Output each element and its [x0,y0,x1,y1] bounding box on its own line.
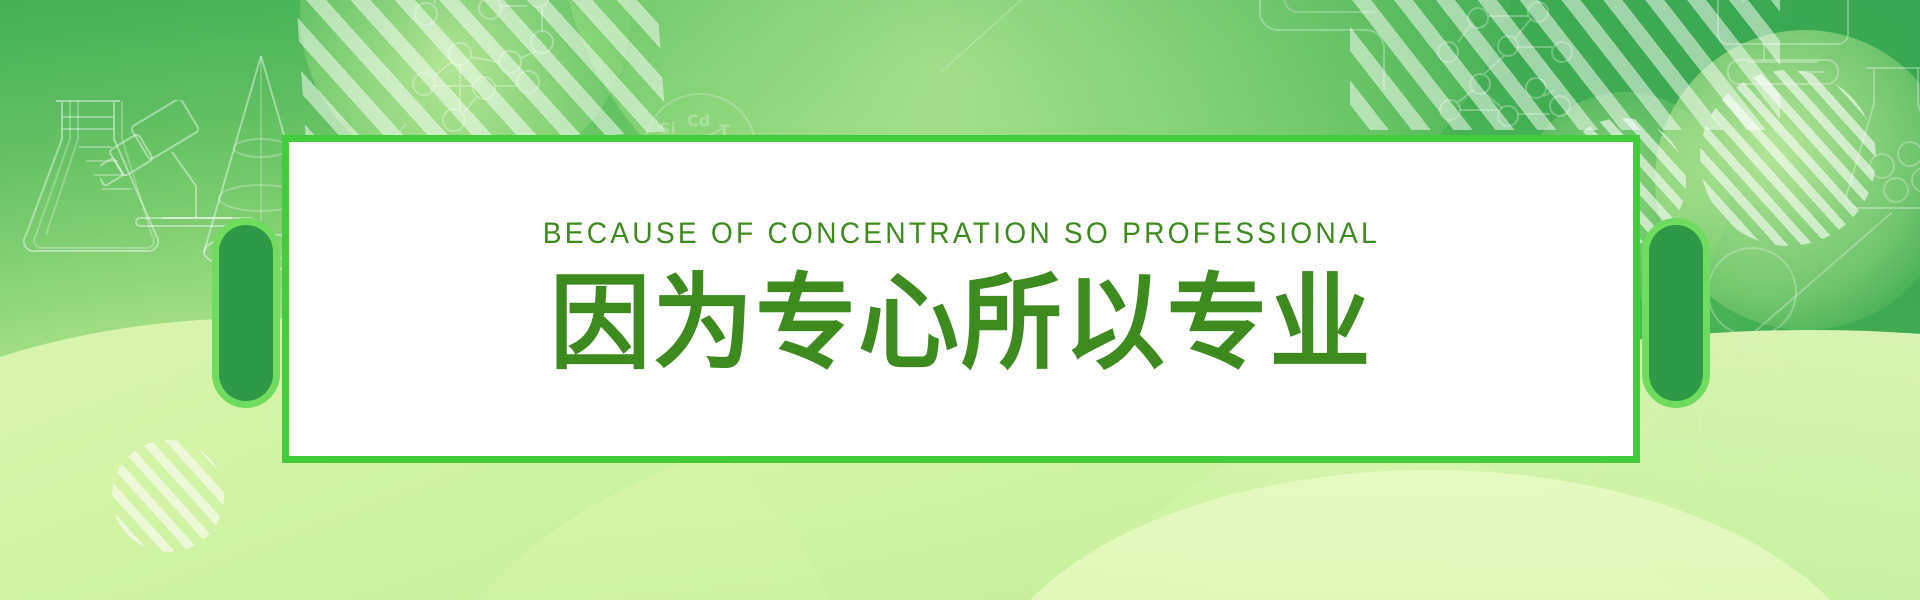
promo-banner: SiCdT HAB Beg [0,0,1920,600]
eyebrow-text: BECAUSE OF CONCENTRATION SO PROFESSIONAL [542,219,1379,249]
accent-bar-left [212,218,280,408]
rounded-frame-icon [1240,0,1420,90]
headline-text: 因为专心所以专业 [550,271,1373,375]
svg-text:Cd: Cd [687,111,710,130]
headline-card: BECAUSE OF CONCENTRATION SO PROFESSIONAL… [282,135,1640,463]
accent-bar-right [1642,218,1710,408]
headline-card-content: BECAUSE OF CONCENTRATION SO PROFESSIONAL… [289,219,1633,375]
striped-circle-bottom-left [112,440,224,552]
molecule-icon [390,0,640,148]
flask-right-icon [1840,62,1920,242]
